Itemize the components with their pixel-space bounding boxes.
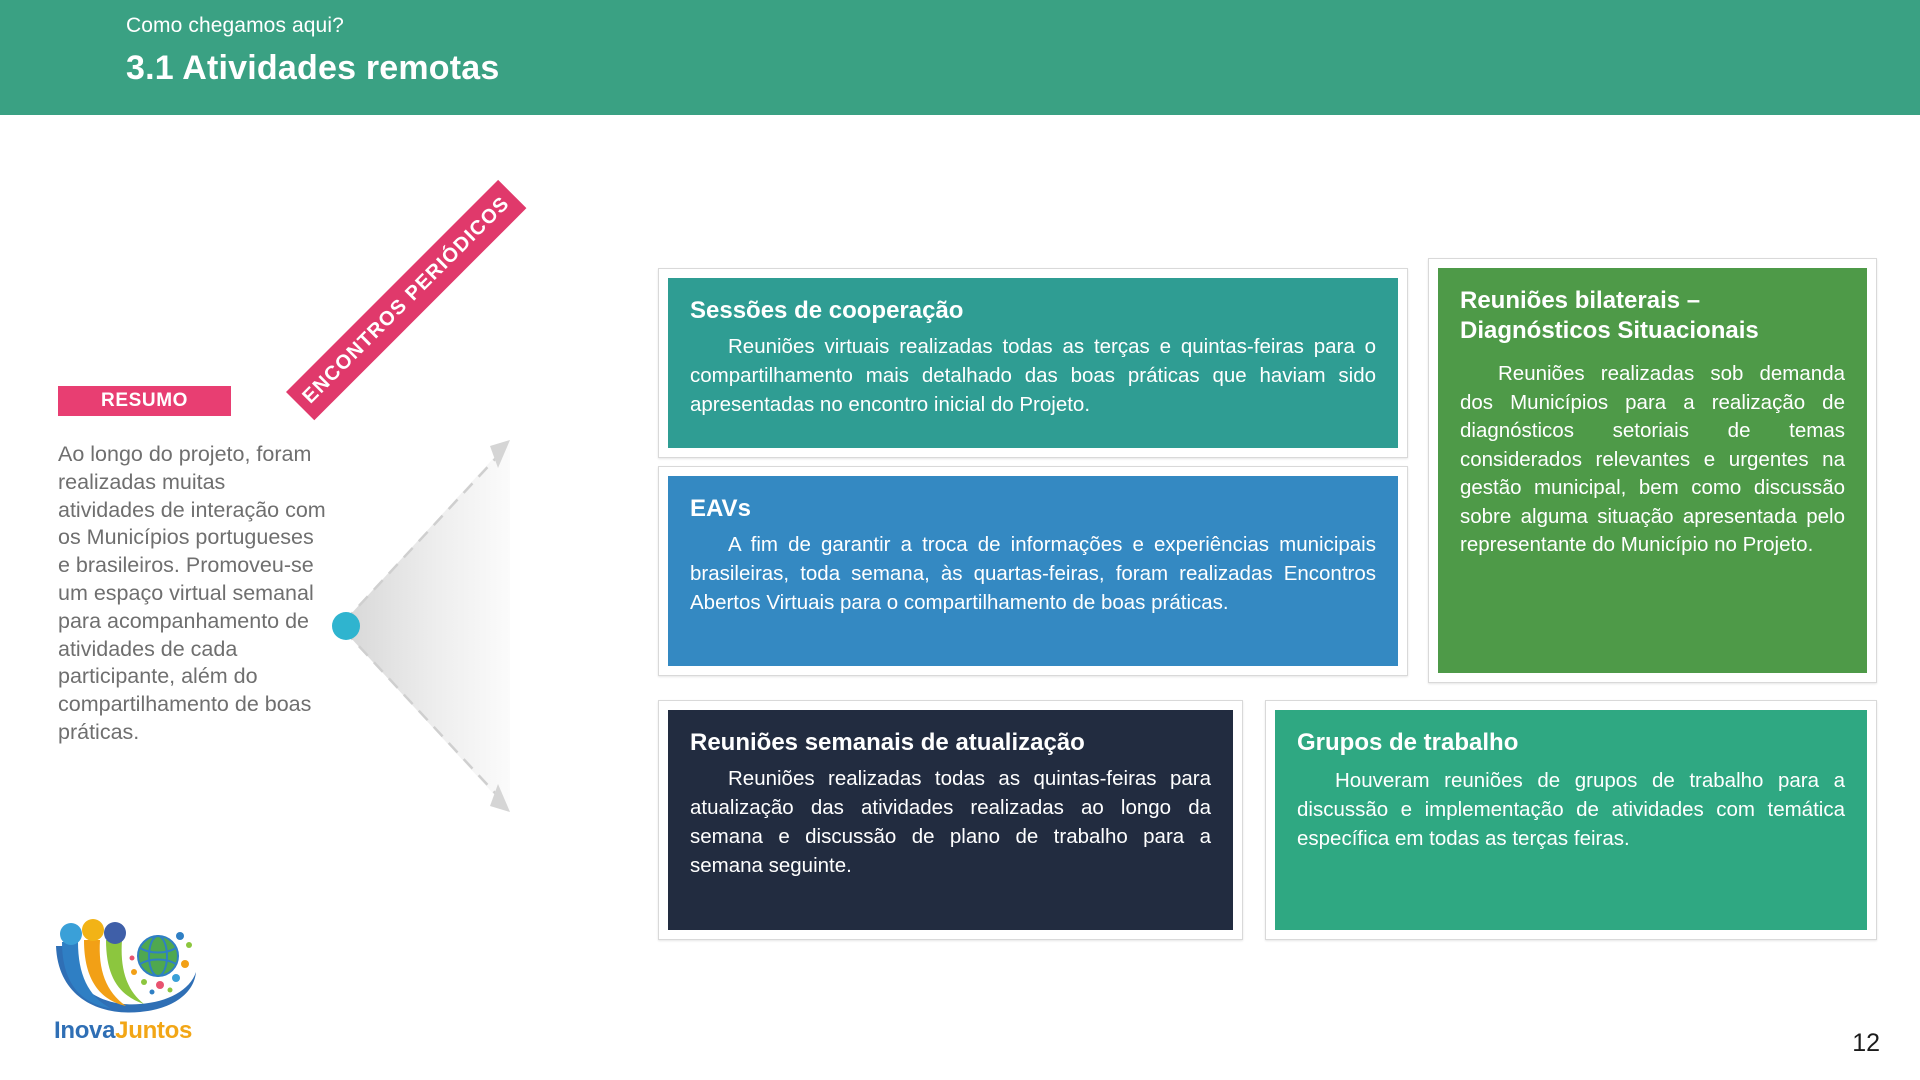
card-title: Reuniões semanais de atualização — [690, 728, 1211, 758]
card-text: Reuniões virtuais realizadas todas as te… — [690, 332, 1376, 419]
status-badge-resumo: RESUMO — [58, 386, 231, 416]
card-text: Reuniões realizadas sob demanda dos Muni… — [1460, 360, 1845, 560]
logo-wordmark: InovaJuntos — [48, 1017, 198, 1045]
card-body: Sessões de cooperação Reuniões virtuais … — [668, 278, 1398, 448]
page-title: 3.1 Atividades remotas — [126, 49, 500, 88]
resumo-badge-label: RESUMO — [101, 390, 188, 412]
card-body: EAVs A fim de garantir a troca de inform… — [668, 476, 1398, 666]
card-title: Sessões de cooperação — [690, 296, 1376, 326]
card-reunioes-semanais-de-atualizacao[interactable]: Reuniões semanais de atualização Reuniõe… — [658, 700, 1243, 940]
card-grupos-de-trabalho[interactable]: Grupos de trabalho Houveram reuniões de … — [1265, 700, 1877, 940]
logo-mark-icon — [48, 912, 198, 1020]
logo-word-juntos: Juntos — [115, 1017, 192, 1044]
card-title: Grupos de trabalho — [1297, 728, 1845, 758]
card-body: Reuniões bilaterais – Diagnósticos Situa… — [1438, 268, 1867, 673]
page-number: 12 — [1852, 1029, 1880, 1058]
fan-shape — [340, 440, 510, 812]
card-body: Reuniões semanais de atualização Reuniõe… — [668, 710, 1233, 930]
card-title: EAVs — [690, 494, 1376, 524]
inovajuntos-logo: InovaJuntos — [48, 912, 198, 1047]
card-reunioes-bilaterais[interactable]: Reuniões bilaterais – Diagnósticos Situa… — [1428, 258, 1877, 683]
slide-header: Como chegamos aqui? 3.1 Atividades remot… — [0, 0, 1920, 115]
logo-word-inova: Inova — [54, 1017, 115, 1044]
card-eavs[interactable]: EAVs A fim de garantir a troca de inform… — [658, 466, 1408, 676]
diagram-origin-dot — [332, 612, 360, 640]
fan-arrow-svg — [300, 300, 640, 900]
header-kicker: Como chegamos aqui? — [126, 14, 344, 38]
card-text: Reuniões realizadas todas as quintas-fei… — [690, 764, 1211, 880]
card-sessoes-de-cooperacao[interactable]: Sessões de cooperação Reuniões virtuais … — [658, 268, 1408, 458]
card-text: Houveram reuniões de grupos de trabalho … — [1297, 766, 1845, 853]
summary-paragraph: Ao longo do projeto, foram realizadas mu… — [58, 441, 328, 747]
card-text: A fim de garantir a troca de informações… — [690, 530, 1376, 617]
card-body: Grupos de trabalho Houveram reuniões de … — [1275, 710, 1867, 930]
card-title: Reuniões bilaterais – Diagnósticos Situa… — [1460, 286, 1845, 346]
diagram-arrow-graphic — [300, 300, 640, 900]
